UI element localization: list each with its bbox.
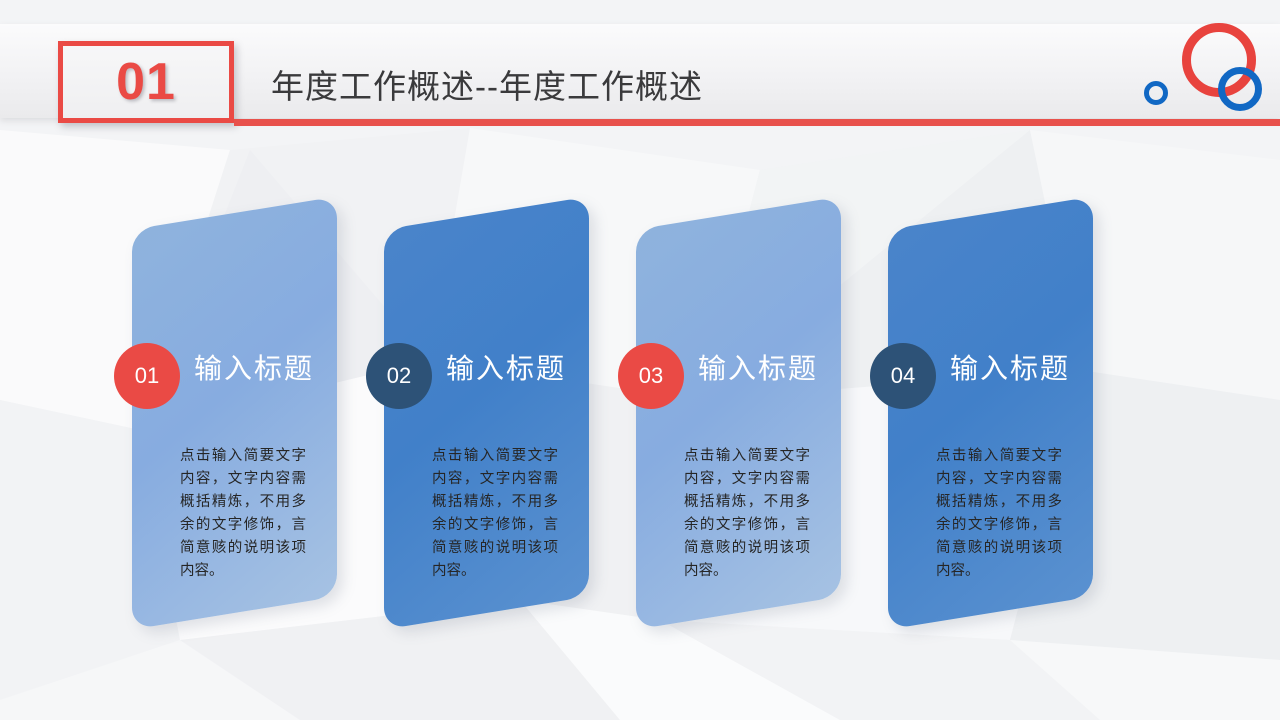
ring-blue-small-icon bbox=[1144, 81, 1168, 105]
card-inner: 03 输入标题 点击输入简要文字内容，文字内容需概括精炼，不用多余的文字修饰，言… bbox=[636, 213, 841, 613]
card-number-badge: 03 bbox=[618, 343, 684, 409]
content-card[interactable]: 01 输入标题 点击输入简要文字内容，文字内容需概括精炼，不用多余的文字修饰，言… bbox=[132, 196, 337, 629]
card-number-text: 01 bbox=[135, 365, 159, 387]
slide-header: 01 年度工作概述--年度工作概述 bbox=[0, 0, 1280, 128]
section-number-text: 01 bbox=[116, 56, 176, 108]
card-title: 输入标题 bbox=[446, 347, 566, 387]
card-title: 输入标题 bbox=[950, 347, 1070, 387]
content-card[interactable]: 04 输入标题 点击输入简要文字内容，文字内容需概括精炼，不用多余的文字修饰，言… bbox=[888, 196, 1093, 629]
card-number-badge: 04 bbox=[870, 343, 936, 409]
card-number-text: 03 bbox=[639, 365, 663, 387]
content-card[interactable]: 03 输入标题 点击输入简要文字内容，文字内容需概括精炼，不用多余的文字修饰，言… bbox=[636, 196, 841, 629]
card-number-badge: 01 bbox=[114, 343, 180, 409]
card-inner: 01 输入标题 点击输入简要文字内容，文字内容需概括精炼，不用多余的文字修饰，言… bbox=[132, 213, 337, 613]
card-body-text: 点击输入简要文字内容，文字内容需概括精炼，不用多余的文字修饰，言简意赅的说明该项… bbox=[432, 445, 558, 583]
card-body-text: 点击输入简要文字内容，文字内容需概括精炼，不用多余的文字修饰，言简意赅的说明该项… bbox=[936, 445, 1062, 583]
card-title: 输入标题 bbox=[698, 347, 818, 387]
header-red-rule bbox=[234, 119, 1280, 126]
ring-blue-icon bbox=[1218, 67, 1262, 111]
card-row: 01 输入标题 点击输入简要文字内容，文字内容需概括精炼，不用多余的文字修饰，言… bbox=[0, 128, 1280, 720]
content-card[interactable]: 02 输入标题 点击输入简要文字内容，文字内容需概括精炼，不用多余的文字修饰，言… bbox=[384, 196, 589, 629]
card-inner: 04 输入标题 点击输入简要文字内容，文字内容需概括精炼，不用多余的文字修饰，言… bbox=[888, 213, 1093, 613]
card-title: 输入标题 bbox=[194, 347, 314, 387]
card-number-text: 02 bbox=[387, 365, 411, 387]
card-number-badge: 02 bbox=[366, 343, 432, 409]
card-inner: 02 输入标题 点击输入简要文字内容，文字内容需概括精炼，不用多余的文字修饰，言… bbox=[384, 213, 589, 613]
slide-canvas: 01 年度工作概述--年度工作概述 01 输入标题 点击输入简要文字内容，文字内… bbox=[0, 0, 1280, 720]
card-number-text: 04 bbox=[891, 365, 915, 387]
section-number-box: 01 bbox=[58, 41, 234, 123]
card-body-text: 点击输入简要文字内容，文字内容需概括精炼，不用多余的文字修饰，言简意赅的说明该项… bbox=[180, 445, 306, 583]
decorative-circles-group bbox=[1120, 0, 1280, 120]
card-body-text: 点击输入简要文字内容，文字内容需概括精炼，不用多余的文字修饰，言简意赅的说明该项… bbox=[684, 445, 810, 583]
page-title: 年度工作概述--年度工作概述 bbox=[271, 60, 703, 108]
